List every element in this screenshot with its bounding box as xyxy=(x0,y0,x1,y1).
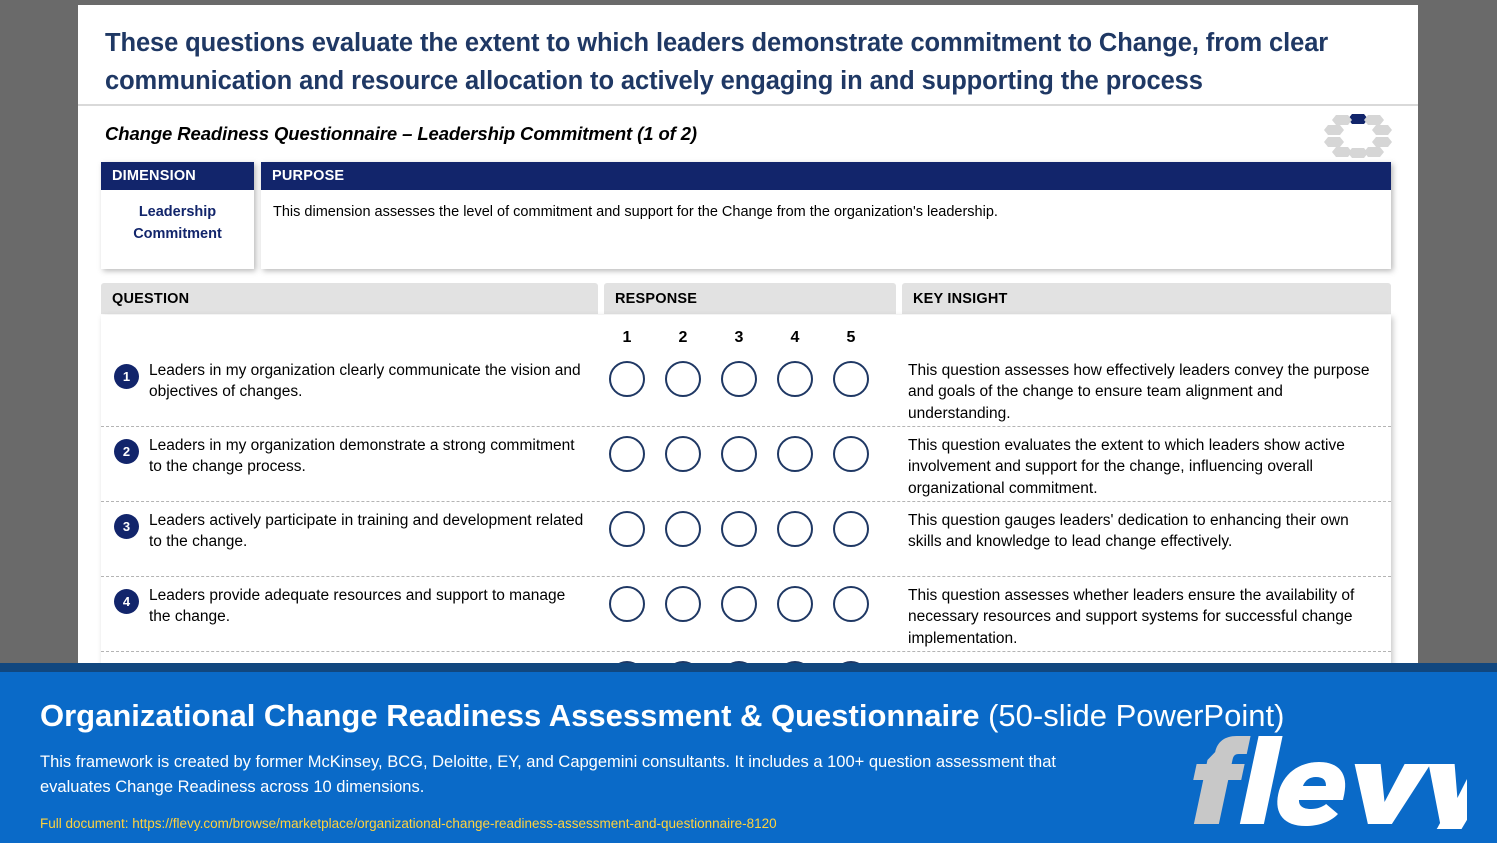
page-title: These questions evaluate the extent to w… xyxy=(105,25,1395,100)
response-option-3[interactable] xyxy=(721,361,757,397)
scale-label-5: 5 xyxy=(828,329,874,347)
dimension-header: DIMENSION xyxy=(101,162,254,190)
key-insight-text: This question assesses whether leaders e… xyxy=(908,585,1383,649)
headline-band: These questions evaluate the extent to w… xyxy=(78,5,1418,106)
response-option-3[interactable] xyxy=(721,586,757,622)
question-number-badge: 4 xyxy=(114,589,139,614)
questionnaire-table: 12345 1Leaders in my organization clearl… xyxy=(101,315,1391,667)
key-insight-text: This question assesses how effectively l… xyxy=(908,360,1383,424)
banner-description: This framework is created by former McKi… xyxy=(40,750,1070,800)
purpose-header: PURPOSE xyxy=(261,162,1391,190)
question-rows: 1Leaders in my organization clearly comm… xyxy=(101,352,1391,667)
scale-label-2: 2 xyxy=(660,329,706,347)
column-header-question: QUESTION xyxy=(101,283,598,314)
response-option-1[interactable] xyxy=(609,361,645,397)
promo-banner: Organizational Change Readiness Assessme… xyxy=(0,663,1497,843)
response-option-2[interactable] xyxy=(665,361,701,397)
response-option-4[interactable] xyxy=(777,436,813,472)
question-text: Leaders actively participate in training… xyxy=(149,510,589,553)
banner-title-light: (50-slide PowerPoint) xyxy=(979,698,1284,733)
question-number-badge: 3 xyxy=(114,514,139,539)
dimension-card: DIMENSION Leadership Commitment xyxy=(101,162,254,269)
response-options xyxy=(604,436,896,476)
response-scale-labels: 12345 xyxy=(604,329,896,353)
key-insight-text: This question gauges leaders' dedication… xyxy=(908,510,1383,553)
slide-canvas: These questions evaluate the extent to w… xyxy=(78,5,1418,673)
scale-label-3: 3 xyxy=(716,329,762,347)
table-row: 1Leaders in my organization clearly comm… xyxy=(101,352,1391,427)
table-row: 2Leaders in my organization demonstrate … xyxy=(101,427,1391,502)
response-options xyxy=(604,511,896,551)
table-row: 3Leaders actively participate in trainin… xyxy=(101,502,1391,577)
response-option-4[interactable] xyxy=(777,511,813,547)
response-option-5[interactable] xyxy=(833,361,869,397)
banner-title-strong: Organizational Change Readiness Assessme… xyxy=(40,698,979,733)
column-header-response: RESPONSE xyxy=(604,283,896,314)
banner-document-link[interactable]: Full document: https://flevy.com/browse/… xyxy=(40,816,777,831)
purpose-value: This dimension assesses the level of com… xyxy=(261,190,1391,269)
response-option-1[interactable] xyxy=(609,586,645,622)
response-options xyxy=(604,361,896,401)
subtitle: Change Readiness Questionnaire – Leaders… xyxy=(105,123,697,145)
column-header-key-insight: KEY INSIGHT xyxy=(902,283,1391,314)
table-row: 4Leaders provide adequate resources and … xyxy=(101,577,1391,652)
response-option-1[interactable] xyxy=(609,436,645,472)
question-number-badge: 2 xyxy=(114,439,139,464)
response-option-2[interactable] xyxy=(665,586,701,622)
response-option-5[interactable] xyxy=(833,586,869,622)
response-option-4[interactable] xyxy=(777,586,813,622)
response-option-4[interactable] xyxy=(777,361,813,397)
purpose-card: PURPOSE This dimension assesses the leve… xyxy=(261,162,1391,269)
question-number-badge: 1 xyxy=(114,364,139,389)
response-options xyxy=(604,586,896,626)
hex-ring-icon xyxy=(1324,113,1392,159)
scale-label-4: 4 xyxy=(772,329,818,347)
question-text: Leaders in my organization clearly commu… xyxy=(149,360,589,403)
banner-title: Organizational Change Readiness Assessme… xyxy=(40,698,1284,734)
question-text: Leaders provide adequate resources and s… xyxy=(149,585,589,628)
response-option-2[interactable] xyxy=(665,511,701,547)
response-option-3[interactable] xyxy=(721,511,757,547)
response-option-1[interactable] xyxy=(609,511,645,547)
dimension-purpose-block: DIMENSION Leadership Commitment PURPOSE … xyxy=(101,162,1391,269)
question-text: Leaders in my organization demonstrate a… xyxy=(149,435,589,478)
response-option-3[interactable] xyxy=(721,436,757,472)
dimension-value: Leadership Commitment xyxy=(101,190,254,269)
flevy-logo-icon xyxy=(1167,734,1467,829)
scale-label-1: 1 xyxy=(604,329,650,347)
response-option-2[interactable] xyxy=(665,436,701,472)
key-insight-text: This question evaluates the extent to wh… xyxy=(908,435,1383,499)
response-option-5[interactable] xyxy=(833,436,869,472)
response-option-5[interactable] xyxy=(833,511,869,547)
table-column-headers: QUESTION RESPONSE KEY INSIGHT xyxy=(101,283,1391,314)
